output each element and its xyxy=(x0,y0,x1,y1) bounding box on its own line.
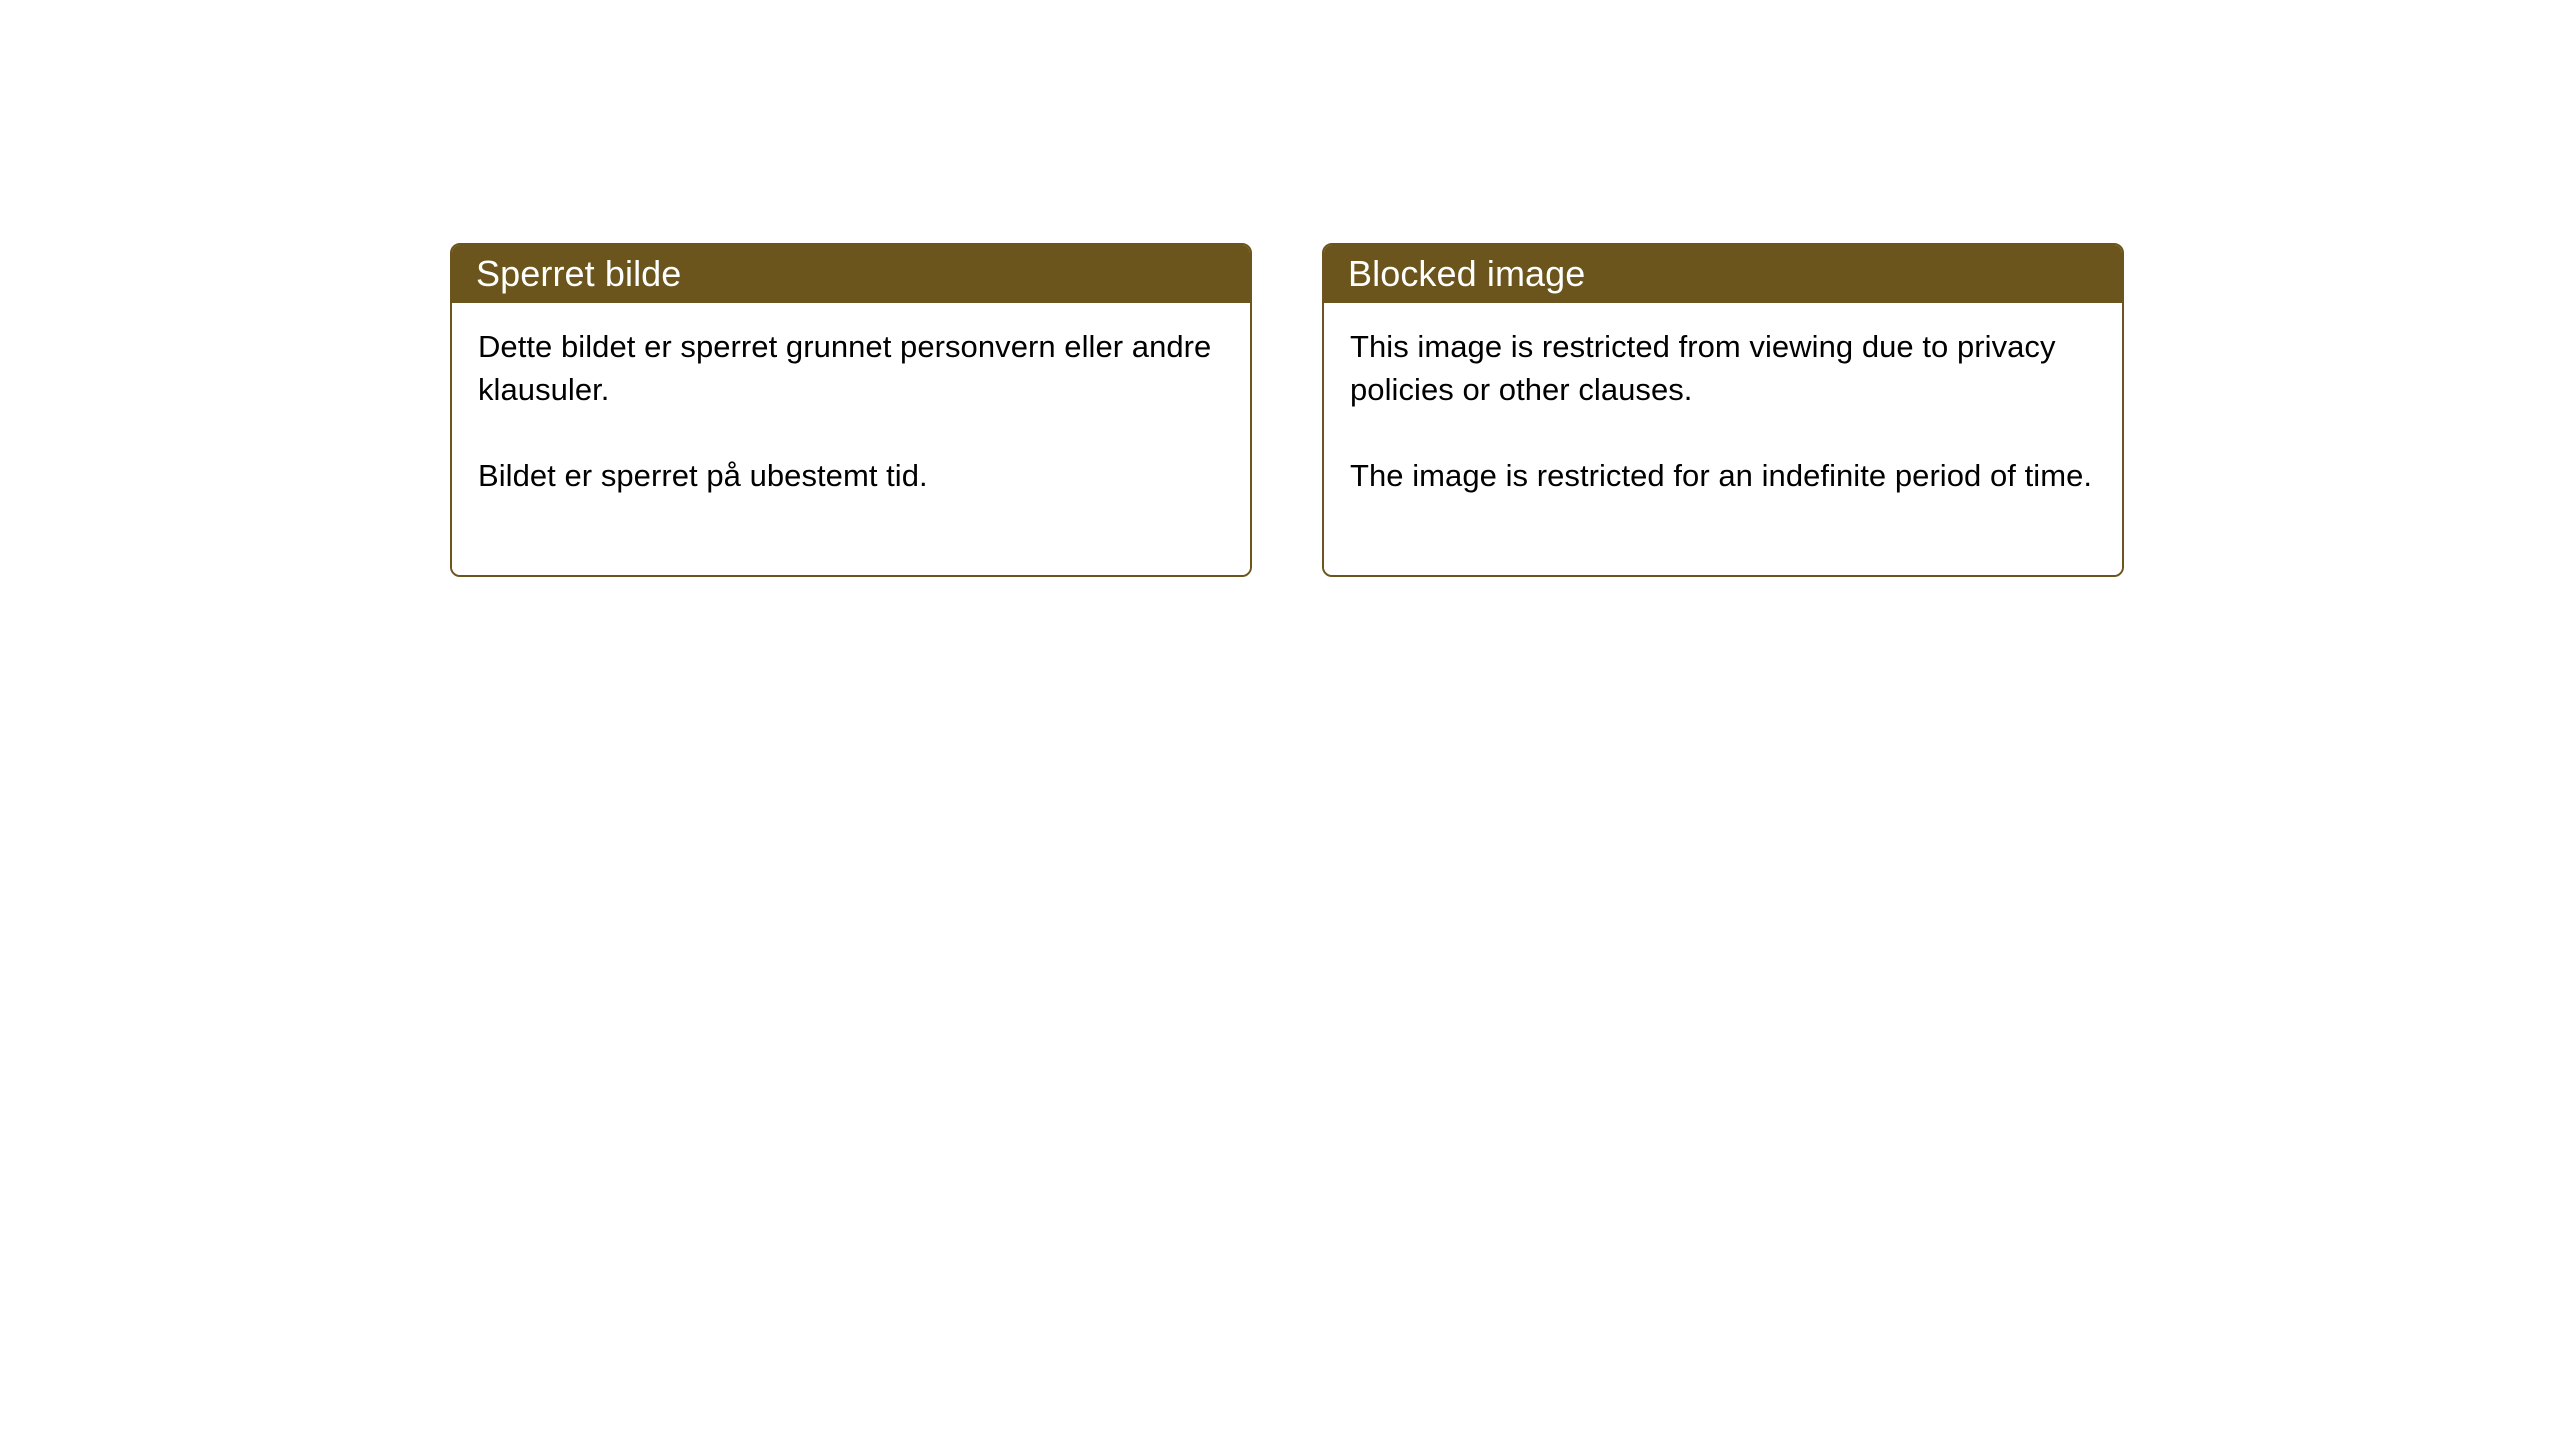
card-header-no: Sperret bilde xyxy=(452,245,1250,303)
card-paragraph-no-2: Bildet er sperret på ubestemt tid. xyxy=(478,454,1224,497)
card-paragraph-en-1: This image is restricted from viewing du… xyxy=(1350,325,2096,411)
card-body-en: This image is restricted from viewing du… xyxy=(1324,303,2122,575)
blocked-image-notice-card-no: Sperret bilde Dette bildet er sperret gr… xyxy=(450,243,1252,577)
card-body-no: Dette bildet er sperret grunnet personve… xyxy=(452,303,1250,575)
card-paragraph-en-2: The image is restricted for an indefinit… xyxy=(1350,454,2096,497)
card-title-no: Sperret bilde xyxy=(476,254,681,294)
page-canvas: Sperret bilde Dette bildet er sperret gr… xyxy=(0,0,2560,1440)
card-title-en: Blocked image xyxy=(1348,254,1585,294)
card-header-en: Blocked image xyxy=(1324,245,2122,303)
blocked-image-notice-card-en: Blocked image This image is restricted f… xyxy=(1322,243,2124,577)
card-paragraph-no-1: Dette bildet er sperret grunnet personve… xyxy=(478,325,1224,411)
